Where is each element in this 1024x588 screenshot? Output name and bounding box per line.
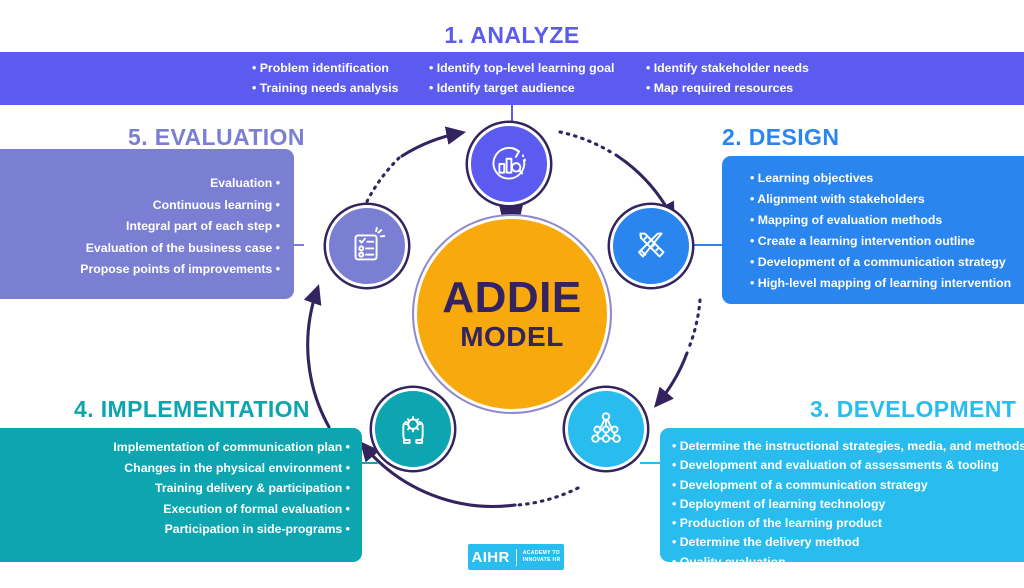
list-item: • Determine the delivery method [672,533,1024,552]
heading-analyze: 1. ANALYZE [0,22,1024,49]
list-item: Continuous learning • [0,195,280,217]
list-item: • High-level mapping of learning interve… [750,273,1024,294]
node-evaluation[interactable] [326,205,408,287]
list-item: • Learning objectives [750,168,1024,189]
heading-design: 2. DESIGN [722,124,839,151]
heading-development: 3. DEVELOPMENT [810,396,1016,423]
list-item: • Deployment of learning technology [672,495,1024,514]
list-item: Evaluation • [0,173,280,195]
aihr-logo: AIHR ACADEMY TO INNOVATE HR [468,544,564,570]
node-design[interactable] [610,205,692,287]
panel-development: • Determine the instructional strategies… [660,428,1024,562]
list-item: Execution of formal evaluation • [0,499,350,520]
analyze-column-1: • Problem identification • Training need… [252,59,409,98]
bar-chart-magnifier-icon [486,141,532,187]
list-item: • Identify target audience [429,79,626,99]
logo-divider [516,549,517,566]
list-item: • Create a learning intervention outline [750,231,1024,252]
list-item: • Identify stakeholder needs [646,59,826,79]
list-item: • Development and evaluation of assessme… [672,456,1024,475]
heading-evaluation: 5. EVALUATION [128,124,305,151]
heading-implementation: 4. IMPLEMENTATION [74,396,310,423]
list-item: • Production of the learning product [672,514,1024,533]
list-item: • Development of a communication strateg… [672,476,1024,495]
list-item: • Identify top-level learning goal [429,59,626,79]
list-item: Propose points of improvements • [0,259,280,281]
center-title: ADDIE [442,275,581,321]
list-item: Participation in side-programs • [0,519,350,540]
list-item: • Map required resources [646,79,826,99]
hands-gear-icon [390,406,436,452]
logo-tagline-line1: ACADEMY TO [523,550,561,557]
list-item: • Determine the instructional strategies… [672,437,1024,456]
logo-tagline-line2: INNOVATE HR [523,557,561,564]
list-item: • Problem identification [252,59,409,79]
node-development[interactable] [565,388,647,470]
list-item: Evaluation of the business case • [0,238,280,260]
checklist-clipboard-icon [344,223,390,269]
list-item: • Training needs analysis [252,79,409,99]
panel-implementation: Implementation of communication plan • C… [0,428,362,562]
list-item: Implementation of communication plan • [0,437,350,458]
list-item: • Development of a communication strateg… [750,252,1024,273]
list-item: Integral part of each step • [0,216,280,238]
logo-mark: AIHR [472,549,510,566]
pencil-ruler-icon [628,223,674,269]
list-item: Training delivery & participation • [0,478,350,499]
node-implementation[interactable] [372,388,454,470]
center-circle: ADDIE MODEL [414,216,610,412]
analyze-column-3: • Identify stakeholder needs • Map requi… [646,59,826,98]
center-subtitle: MODEL [460,321,564,353]
panel-design: • Learning objectives • Alignment with s… [722,156,1024,304]
list-item: • Quality evaluation [672,553,1024,572]
analyze-column-2: • Identify top-level learning goal • Ide… [429,59,626,98]
node-analyze[interactable] [468,123,550,205]
list-item: • Alignment with stakeholders [750,189,1024,210]
addie-infographic: • Problem identification • Training need… [0,0,1024,588]
list-item: Changes in the physical environment • [0,458,350,479]
panel-evaluation: Evaluation • Continuous learning • Integ… [0,149,294,299]
list-item: • Mapping of evaluation methods [750,210,1024,231]
panel-analyze: • Problem identification • Training need… [0,52,1024,105]
network-nodes-icon [583,406,629,452]
